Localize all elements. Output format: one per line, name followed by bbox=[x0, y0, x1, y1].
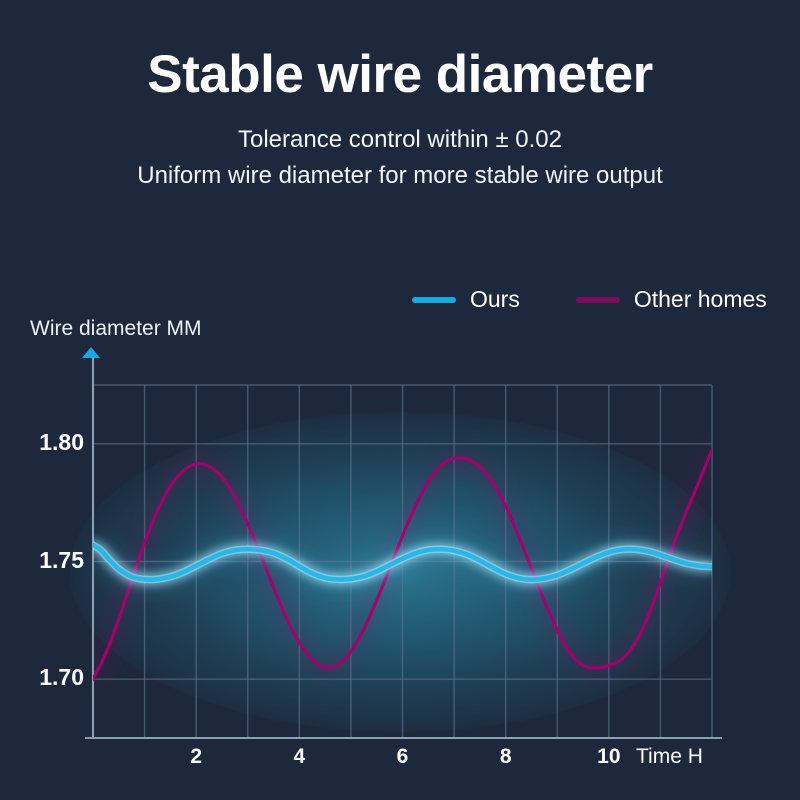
x-tick-label: 4 bbox=[293, 745, 305, 769]
x-tick-label: 8 bbox=[500, 745, 512, 769]
infographic-canvas: Stable wire diameter Tolerance control w… bbox=[0, 0, 800, 800]
x-tick-label: 10 bbox=[597, 745, 620, 769]
x-axis-title: Time H bbox=[636, 745, 703, 769]
x-tick-label: 6 bbox=[397, 745, 409, 769]
x-axis-tick-labels: 246810 bbox=[0, 0, 800, 800]
x-tick-label: 2 bbox=[190, 745, 202, 769]
